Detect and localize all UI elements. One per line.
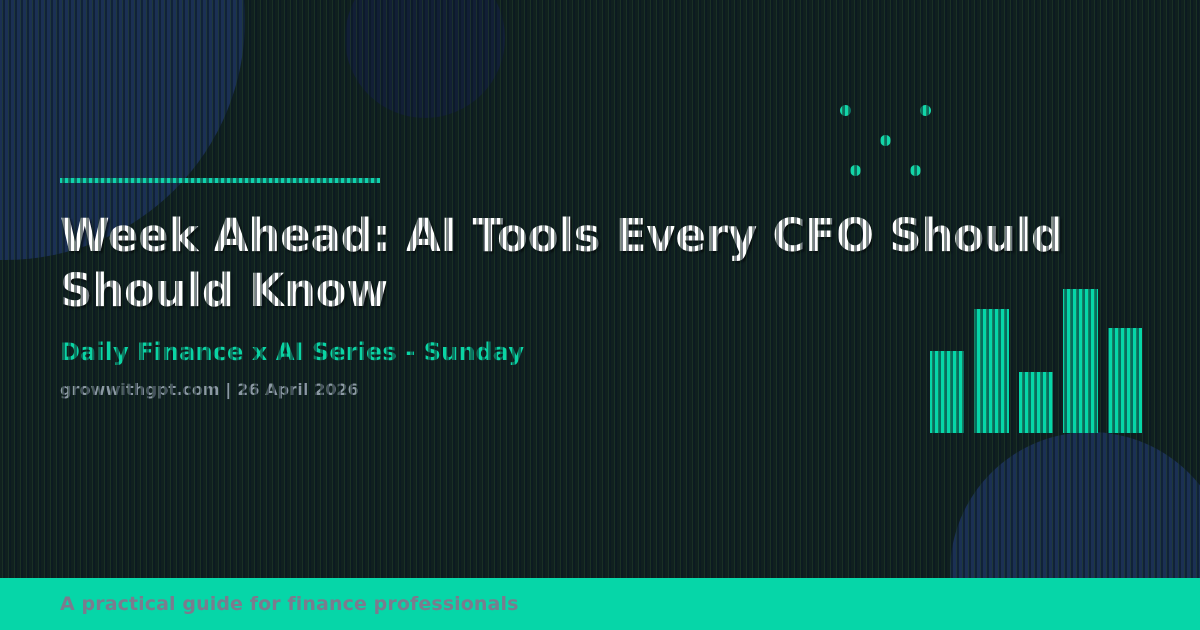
dot-top-left (840, 105, 851, 116)
dot-bottom-left (850, 165, 861, 176)
bar-5 (1108, 328, 1142, 433)
dot-bottom-right (910, 165, 921, 176)
decorative-dot-cluster (836, 105, 936, 180)
accent-rule (60, 178, 380, 183)
social-card: Week Ahead: AI Tools Every CFO Should Sh… (0, 0, 1200, 630)
card-meta: growwithgpt.com | 26 April 2026 (60, 380, 1080, 399)
page-title: Week Ahead: AI Tools Every CFO Should Sh… (60, 209, 1070, 319)
banner-text: A practical guide for finance profession… (60, 593, 518, 615)
bottom-banner: A practical guide for finance profession… (0, 578, 1200, 630)
dot-center (880, 135, 891, 146)
card-content: Week Ahead: AI Tools Every CFO Should Sh… (60, 178, 1080, 399)
decorative-circle-top-middle (345, 0, 505, 118)
card-subtitle: Daily Finance x AI Series - Sunday (60, 338, 1080, 366)
dot-top-right (920, 105, 931, 116)
